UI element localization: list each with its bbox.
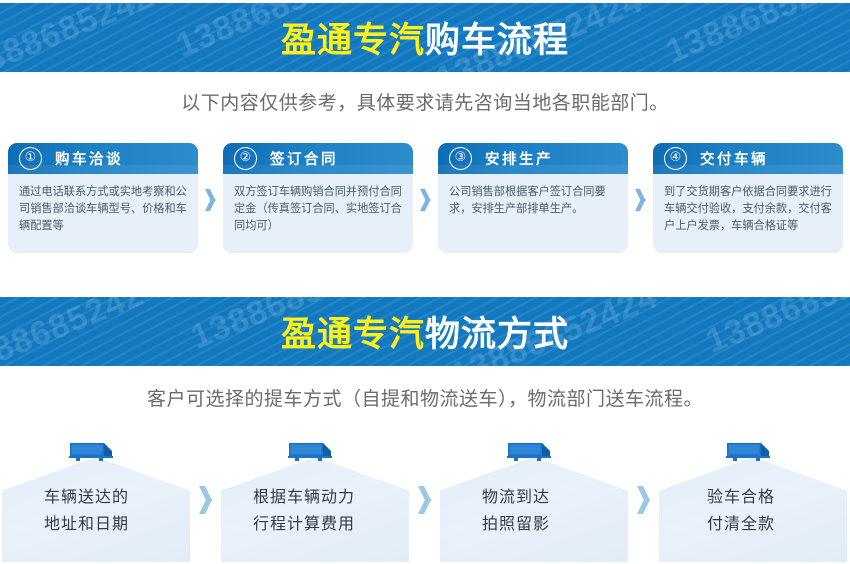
watermark-text: 13886852424 [0,3,178,72]
step-body: 双方签订车辆购销合同并预付合同定金（传真签订合同、实地签订合同均可） [223,174,413,253]
step-body: 公司销售部根据客户签订合同要求，安排生产部排单生产。 [438,174,628,253]
logistics-line-2: 拍照留影 [482,510,628,537]
purchase-subtitle: 以下内容仅供参考，具体要求请先咨询当地各职能部门。 [0,88,850,115]
logistics-card: 车辆送达的 地址和日期 [2,438,190,562]
banner-purchase-process: 13886852424 13886852424 13886852424 1388… [0,3,850,72]
logistics-line-1: 验车合格 [707,483,847,510]
step-header: ② 签订合同 [223,143,413,174]
watermark-text: 13886852424 [701,297,850,362]
step-arrow [198,143,223,253]
page-root: 13886852424 13886852424 13886852424 1388… [0,0,850,564]
logistics-line-2: 行程计算费用 [253,510,409,537]
logistics-line-2: 地址和日期 [44,510,190,537]
step-title: 交付车辆 [700,148,768,169]
logistics-card-text: 物流到达 拍照留影 [440,457,628,562]
step-body: 到了交货期客户依据合同要求进行车辆交付验收，支付余款，交付客户上户发票，车辆合格… [653,174,843,253]
logistics-card: 根据车辆动力 行程计算费用 [221,438,409,562]
chevron-right-icon [205,189,216,207]
step-body: 通过电话联系方式或实地考察和公司销售部洽谈车辆型号、价格和车辆配置等 [8,174,198,253]
step-card: ② 签订合同 双方签订车辆购销合同并预付合同定金（传真签订合同、实地签订合同均可… [223,143,413,253]
step-title: 安排生产 [485,148,553,169]
logistics-card-text: 验车合格 付清全款 [659,457,847,562]
logistics-arrow [628,438,659,562]
logistics-card: 验车合格 付清全款 [659,438,847,562]
logistics-line-1: 物流到达 [482,483,628,510]
watermark-text: 13886852424 [661,3,850,72]
step-arrow [628,143,653,253]
logistics-card-text: 根据车辆动力 行程计算费用 [221,457,409,562]
banner-brand: 盈通专汽 [281,21,425,61]
step-arrow [413,143,438,253]
step-number-badge: ④ [664,147,687,170]
logistics-arrow [409,438,440,562]
chevron-right-icon [635,189,646,207]
banner-heading: 购车流程 [425,21,569,61]
logistics-subtitle: 客户可选择的提车方式（自提和物流送车），物流部门送车流程。 [0,384,850,411]
chevron-right-icon [420,189,431,207]
step-card: ③ 安排生产 公司销售部根据客户签订合同要求，安排生产部排单生产。 [438,143,628,253]
step-header: ④ 交付车辆 [653,143,843,174]
logistics-arrow [190,438,221,562]
logistics-card-text: 车辆送达的 地址和日期 [2,457,190,562]
watermark-text: 13886852424 [0,297,168,366]
chevron-right-icon [418,486,432,509]
step-card: ④ 交付车辆 到了交货期客户依据合同要求进行车辆交付验收，支付余款，交付客户上户… [653,143,843,253]
step-card: ① 购车洽谈 通过电话联系方式或实地考察和公司销售部洽谈车辆型号、价格和车辆配置… [8,143,198,253]
logistics-line-2: 付清全款 [707,510,847,537]
step-title: 签订合同 [270,148,338,169]
step-number-badge: ① [19,147,42,170]
step-title: 购车洽谈 [55,148,123,169]
banner-logistics: 13886852424 13886852424 13886852424 1388… [0,297,850,366]
purchase-steps-row: ① 购车洽谈 通过电话联系方式或实地考察和公司销售部洽谈车辆型号、价格和车辆配置… [8,143,842,255]
banner-brand: 盈通专汽 [281,315,425,355]
logistics-cards-row: 车辆送达的 地址和日期 根据车辆动力 行程计算费用 [2,438,848,562]
step-header: ① 购车洽谈 [8,143,198,174]
banner-title: 盈通专汽购车流程 [281,12,569,63]
step-number-badge: ② [234,147,257,170]
logistics-card: 物流到达 拍照留影 [440,438,628,562]
step-header: ③ 安排生产 [438,143,628,174]
logistics-line-1: 根据车辆动力 [253,483,409,510]
chevron-right-icon [199,486,213,509]
banner-heading: 物流方式 [425,315,569,355]
chevron-right-icon [637,486,651,509]
logistics-line-1: 车辆送达的 [44,483,190,510]
banner-title: 盈通专汽物流方式 [281,306,569,357]
step-number-badge: ③ [449,147,472,170]
